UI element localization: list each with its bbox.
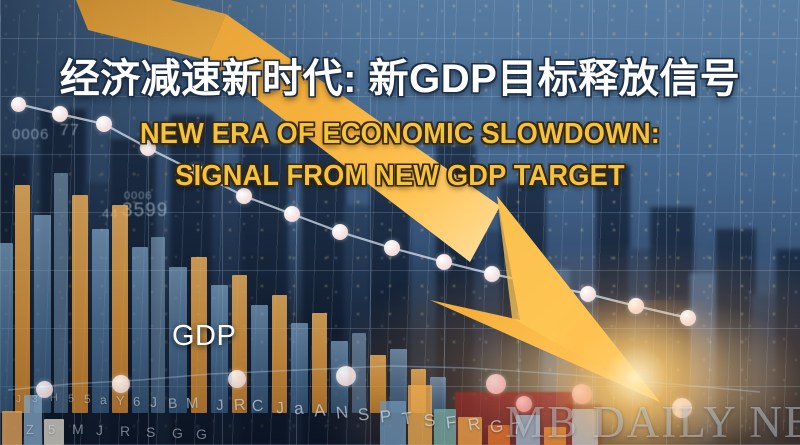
axis-glyph-21: S xyxy=(423,410,437,431)
axis-glyph-3: 5 xyxy=(68,393,75,405)
axis-glyph-19: P xyxy=(379,406,392,427)
axis-glyph-8: J xyxy=(150,394,158,410)
axis-glyph-20: T xyxy=(401,408,414,429)
watermark-mb-daily-news: MB DAILY NEWS xyxy=(505,396,800,445)
axis-glyph-11: J xyxy=(215,397,224,414)
gdp-chart-label: GDP xyxy=(172,320,236,353)
axis-glyph-10: M xyxy=(186,395,199,413)
axis-glyph-33: G xyxy=(196,426,207,442)
axis-glyph-32: G xyxy=(172,425,183,441)
axis-glyph-18: S xyxy=(357,404,370,425)
axis-glyph-6: Y xyxy=(116,393,125,408)
axis-glyph-28: M xyxy=(72,421,84,437)
axis-glyph-31: S xyxy=(146,424,155,440)
axis-glyph-27: 5 xyxy=(48,422,55,437)
axis-glyph-14: J xyxy=(275,400,285,419)
news-thumbnail-image: 0006 77 44 3599 0006 xyxy=(0,0,800,445)
axis-glyph-29: J xyxy=(96,422,103,438)
axis-glyph-7: 6 xyxy=(133,394,141,409)
axis-glyph-12: R xyxy=(233,397,246,416)
axis-glyph-0: J xyxy=(16,394,21,405)
axis-glyph-4: 5 xyxy=(84,392,91,406)
axis-glyph-5: a xyxy=(100,393,107,407)
axis-glyph-1: 3 xyxy=(32,394,38,405)
subtitle-english-line2: SIGNAL FROM NEW GDP TARGET xyxy=(18,160,782,193)
axis-glyph-9: B xyxy=(168,395,178,411)
axis-glyph-13: C xyxy=(251,398,264,417)
axis-glyph-16: A xyxy=(313,401,326,422)
axis-glyph-2: H xyxy=(50,392,58,404)
axis-glyph-26: Z xyxy=(26,422,34,437)
axis-glyph-23: R xyxy=(467,414,482,436)
axis-glyph-22: F xyxy=(445,412,458,433)
subtitle-english-line1: NEW ERA OF ECONOMIC SLOWDOWN: xyxy=(18,118,782,151)
axis-glyph-30: R xyxy=(120,423,130,439)
axis-glyph-24: G xyxy=(489,416,505,438)
axis-glyph-17: N xyxy=(335,402,349,423)
axis-glyph-15: a xyxy=(293,399,304,420)
headline-chinese: 经济减速新时代: 新GDP目标释放信号 xyxy=(0,46,800,104)
